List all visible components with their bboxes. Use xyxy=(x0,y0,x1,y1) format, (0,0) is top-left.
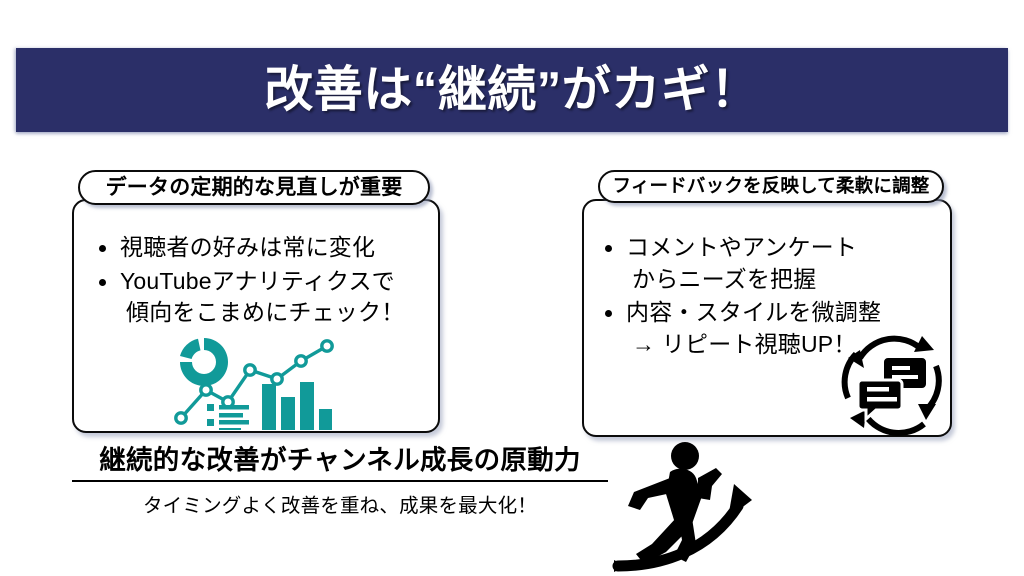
panel-heading-pill-data-review: データの定期的な見直しが重要 xyxy=(78,170,430,205)
slide-canvas: 改善は“継続”がカギ！ データの定期的な見直しが重要 視聴者の好みは常に変化 Y… xyxy=(0,0,1024,576)
bullet-line-1: 内容・スタイルを微調整 xyxy=(626,299,881,325)
analytics-chart-icon xyxy=(170,332,340,430)
panel-heading-label-feedback-adjust: フィードバックを反映して柔軟に調整 xyxy=(613,177,930,196)
bullet-line-1: 視聴者の好みは常に変化 xyxy=(120,234,375,260)
bullet-line-1: YouTubeアナリティクスで xyxy=(120,268,395,294)
list-item: YouTubeアナリティクスで 傾向をこまめにチェック！ xyxy=(96,266,436,329)
panel-heading-label-data-review: データの定期的な見直しが重要 xyxy=(106,177,403,198)
runner-growth-arrow-icon xyxy=(612,438,772,572)
bullet-line-1: コメントやアンケート xyxy=(626,234,857,260)
feedback-loop-icon xyxy=(838,328,946,436)
title-banner: 改善は“継続”がカギ！ xyxy=(16,48,1008,132)
page-title: 改善は“継続”がカギ！ xyxy=(264,66,760,115)
summary-subline: タイミングよく改善を重ね、成果を最大化！ xyxy=(72,489,608,518)
bullet-line-2: 傾向をこまめにチェック！ xyxy=(120,297,436,329)
list-item: 視聴者の好みは常に変化 xyxy=(96,232,436,264)
summary-block: 継続的な改善がチャンネル成長の原動力 タイミングよく改善を重ね、成果を最大化！ xyxy=(72,446,608,518)
bullet-line-2: からニーズを把握 xyxy=(626,264,952,296)
summary-headline: 継続的な改善がチャンネル成長の原動力 xyxy=(72,446,608,482)
bullet-list-data-review: 視聴者の好みは常に変化 YouTubeアナリティクスで 傾向をこまめにチェック！ xyxy=(96,232,436,331)
panel-heading-pill-feedback-adjust: フィードバックを反映して柔軟に調整 xyxy=(598,170,944,203)
list-item: コメントやアンケート からニーズを把握 xyxy=(602,232,952,295)
